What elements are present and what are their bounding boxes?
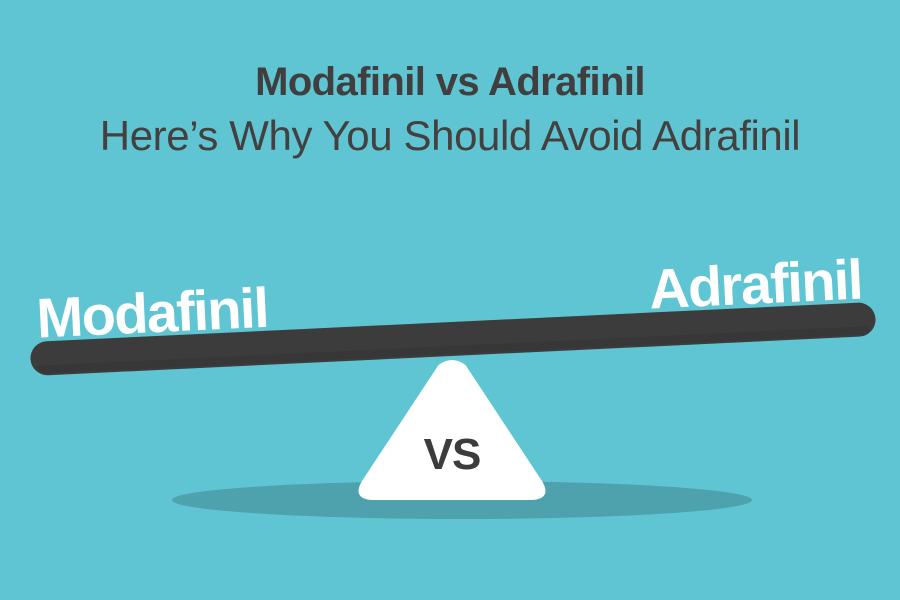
fulcrum-group: VS [352, 355, 552, 503]
versus-label: VS [352, 433, 552, 477]
seesaw-illustration: Modafinil Adrafinil VS [0, 0, 900, 600]
poster-canvas: Modafinil vs Adrafinil Here’s Why You Sh… [0, 0, 900, 600]
fulcrum-triangle-icon [352, 355, 552, 503]
seesaw-label-right: Adrafinil [648, 252, 863, 318]
seesaw-label-left: Modafinil [35, 280, 269, 347]
